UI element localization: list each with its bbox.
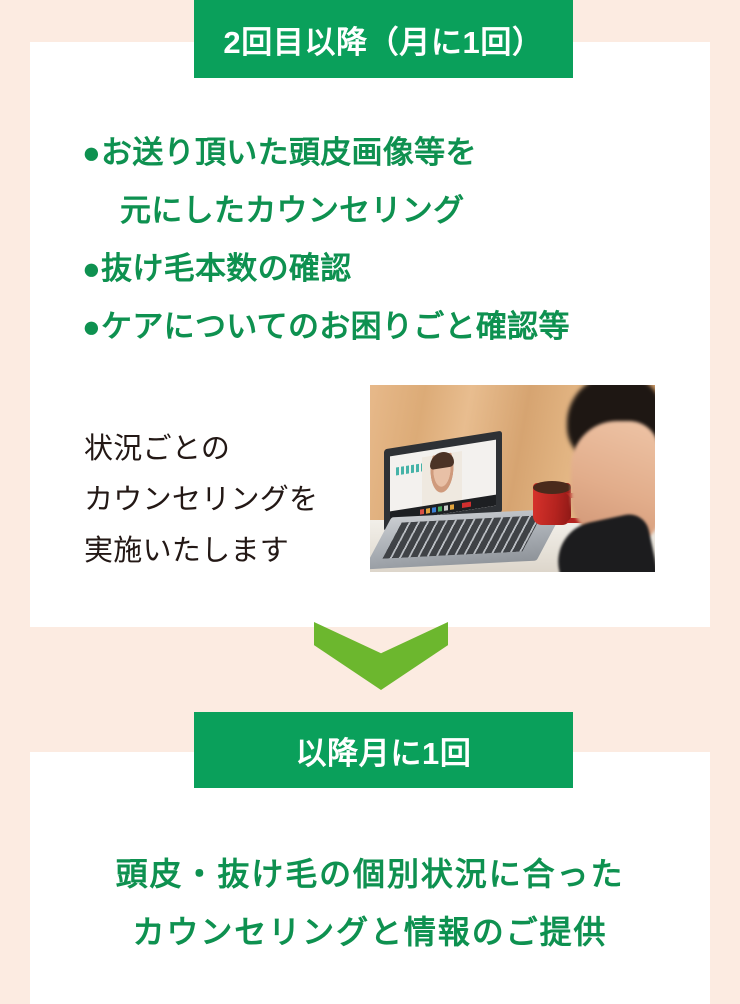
step-banner-second-onward: 2回目以降（月に1回） [194,0,573,78]
list-item-line: 抜け毛本数の確認 [101,251,351,286]
list-item-continuation: 元にしたカウンセリング [82,182,682,240]
summary-line: カウンセリングと情報のご提供 [30,903,710,961]
bullet-dot-icon: ● [82,309,101,344]
bullet-dot-icon: ● [82,251,101,286]
bullet-dot-icon: ● [82,135,101,170]
step-banner-monthly: 以降月に1回 [194,712,573,788]
list-item-line: 元にしたカウンセリング [120,193,464,228]
list-item: ●ケアについてのお困りごと確認等 [82,298,682,356]
counseling-caption: 状況ごとの カウンセリングを 実施いたします [84,424,354,577]
list-item: ●抜け毛本数の確認 [82,240,682,298]
online-counseling-photo [370,385,655,572]
summary-line: 頭皮・抜け毛の個別状況に合った [30,845,710,903]
flow-diagram: 2回目以降（月に1回） ●お送り頂いた頭皮画像等を 元にしたカウンセリング ●抜… [0,0,740,1004]
bottom-summary-message: 頭皮・抜け毛の個別状況に合った カウンセリングと情報のご提供 [30,845,710,961]
photo-screen-caption-bar [396,463,422,475]
list-item-line: ケアについてのお困りごと確認等 [101,309,570,344]
caption-line: 実施いたします [84,526,354,577]
caption-line: カウンセリングを [84,475,354,526]
list-item-line: お送り頂いた頭皮画像等を [101,135,477,170]
service-bullet-list: ●お送り頂いた頭皮画像等を 元にしたカウンセリング ●抜け毛本数の確認 ●ケアに… [82,124,682,356]
list-item: ●お送り頂いた頭皮画像等を [82,124,682,182]
chevron-down-icon [314,622,448,690]
caption-line: 状況ごとの [84,424,354,475]
